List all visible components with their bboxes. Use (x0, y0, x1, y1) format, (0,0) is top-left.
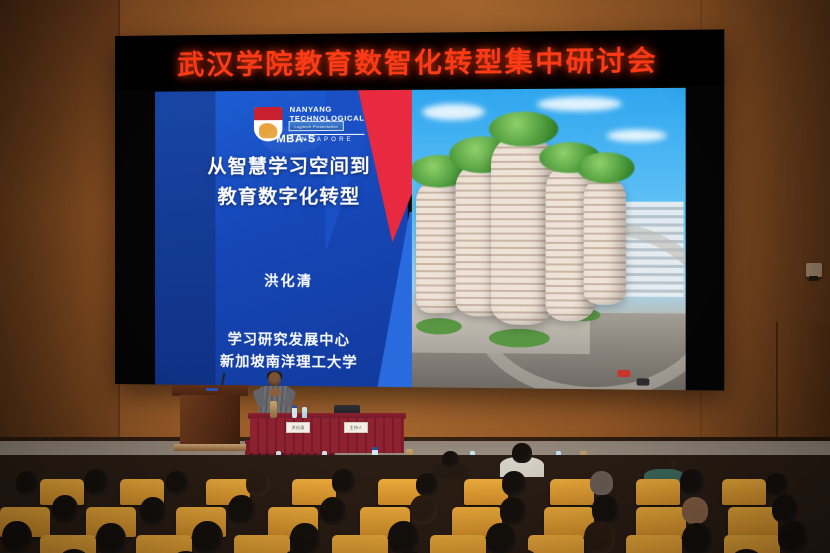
thermos (270, 401, 277, 418)
stage-table: 洪化清 主持人 (248, 413, 406, 453)
lectern-body (180, 395, 240, 445)
event-banner-text: 武汉学院教育数智化转型集中研讨会 (177, 38, 658, 82)
led-screen-surface: 武汉学院教育数智化转型集中研讨会 (115, 29, 724, 390)
auditorium-photo: 武汉学院教育数智化转型集中研讨会 (0, 0, 830, 553)
name-placard-text: 洪化清 (292, 425, 305, 431)
lectern-base (174, 444, 246, 451)
slide-organisation: 学习研究发展中心 新加坡南洋理工大学 (173, 328, 406, 374)
lectern[interactable] (176, 385, 244, 453)
event-banner: 武汉学院教育数智化转型集中研讨会 (115, 29, 724, 90)
name-placard: 主持人 (344, 422, 368, 433)
ntu-logo-line1: NANYANG (290, 104, 365, 114)
water-bottle (292, 405, 297, 418)
slide-title: 从智慧学习空间到 教育数字化转型 (173, 151, 406, 212)
presentation-window-title: Logitech Presentation (294, 123, 338, 128)
slide-title-line2: 教育数字化转型 (173, 181, 406, 212)
wall-shading-left (0, 0, 120, 470)
led-screen[interactable]: 武汉学院教育数智化转型集中研讨会 (115, 29, 724, 390)
slide-title-line1: 从智慧学习空间到 (173, 151, 406, 182)
name-placard: 洪化清 (286, 422, 310, 433)
stage-table-skirt (250, 418, 404, 453)
audience-area (0, 455, 830, 553)
presenter-head (268, 372, 281, 387)
slide-photo (412, 88, 686, 390)
lectern-display (206, 388, 218, 391)
name-placard-text: 主持人 (350, 425, 363, 431)
presenter-hands (269, 388, 281, 397)
slide-org-line1: 学习研究发展中心 (173, 328, 406, 352)
slide-author: 洪化清 (173, 270, 406, 291)
presentation-slide: NANYANG TECHNOLOGICAL UNIVERSITY SINGAPO… (155, 88, 686, 390)
presentation-window-titlebar[interactable]: Logitech Presentation (289, 121, 344, 131)
mba-s-label: MBA-S (276, 133, 315, 145)
